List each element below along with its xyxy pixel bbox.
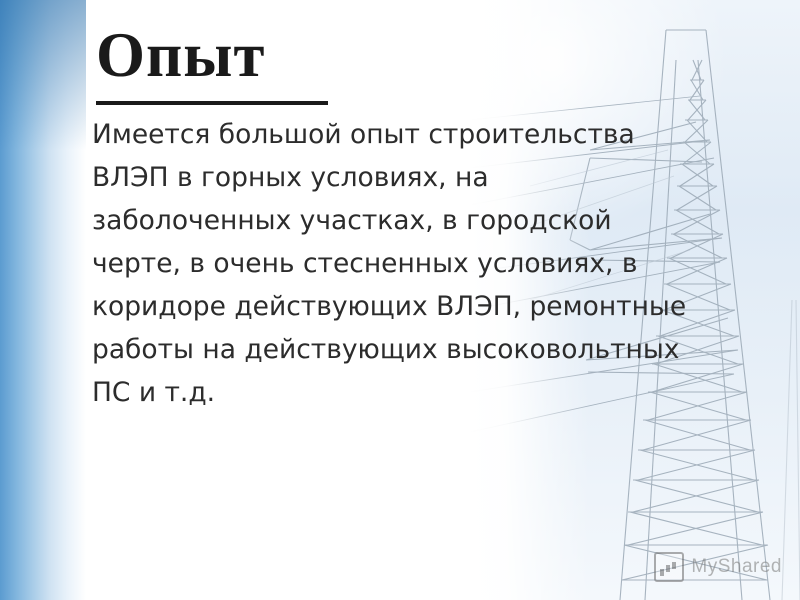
slideshare-logo-icon <box>654 552 684 582</box>
body-paragraph: Имеется большой опыт строительства ВЛЭП … <box>92 113 692 414</box>
page-title: Опыт <box>96 22 265 88</box>
body-text: Имеется большой опыт строительства ВЛЭП … <box>92 113 692 414</box>
watermark-label: MyShared <box>691 556 782 578</box>
left-accent-band <box>0 0 86 600</box>
watermark: MyShared <box>654 552 782 582</box>
slide: Опыт Имеется большой опыт строительства … <box>0 0 800 600</box>
title-underline <box>96 101 328 105</box>
left-accent-band-highlight <box>0 0 86 150</box>
